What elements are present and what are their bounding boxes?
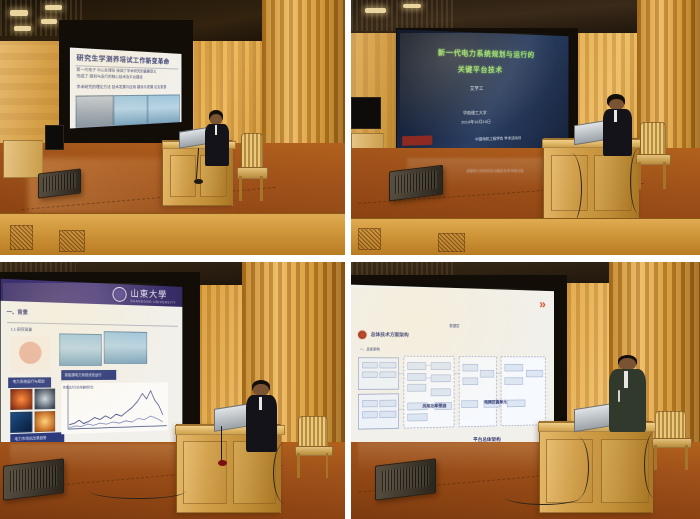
slide-thumbnail [76,96,114,128]
collage-panel-bottom-right[interactable]: » 总体技术方案架构 一、总体架构 [351,262,700,519]
speaker-person [602,94,633,155]
speaker-grill [43,173,76,192]
slide-thumbnail-solar [35,410,56,431]
slide-body-line: 完成了 规划与运行的核心技术及平台建设 [77,74,143,80]
slide-thumbnail-plasma [11,389,33,410]
stage-apron [351,218,700,255]
chart-note: 风电出力与负荷曲线对比 [63,385,94,389]
slide-thumbnail-typhoon [35,388,56,409]
stage-apron [0,213,345,255]
section-label: 一、总体架构 [360,346,380,351]
torso [603,109,632,156]
slide-line-chart [61,382,168,433]
wall-monitor [351,97,381,130]
collage-gutter-horizontal [0,255,700,262]
panel-title: 电力系统运行与规划 [13,378,45,383]
projection-screen: 研究生学测养培试工作新变革命 新一代电子 中心处理系 强调了学术研究的重要意义 … [70,47,182,128]
slide-footer-band [402,135,432,146]
chair-leg [685,445,688,470]
speaker-person [609,355,647,432]
head [253,384,269,396]
microphone [221,426,222,462]
panel-title: 新能源电力系统优化运行 [65,371,102,376]
slide-block-diagram [357,354,546,434]
apron-vent [59,230,85,252]
floor-monitor-speaker [38,168,81,198]
diagram-label: 风电功率预测 [422,403,446,409]
apron-vent [438,233,464,253]
diagram-label: 电网仿真单元 [484,399,507,405]
handheld-microphone [618,390,620,402]
head [619,358,636,370]
slide-thumbnail-turbines [104,330,148,363]
slide-title-line1: 新一代电力系统规划与运行的 [438,47,535,60]
slide-thumbnail-windfarm [60,333,103,365]
ceiling-vent [351,0,456,31]
podium-panel [594,155,632,211]
university-seal-icon [113,286,127,301]
slide-thumbnail-circuit [11,411,33,433]
stage-chair [235,133,270,202]
speaker-grill [396,171,438,194]
affiliation-line2: 2019年10月19日 [461,119,491,126]
microphone-head [194,179,202,184]
collage-panel-bottom-left[interactable]: 山東大學 SHANDONG UNIVERSITY 一、背景 1.1 研究背景 电… [0,262,345,519]
speaker-person [204,110,232,166]
chair-seat [237,167,268,179]
slide-title: 总体技术方案架构 [371,331,409,338]
speaker-person [245,380,280,452]
subsection-label: 1.1 研究背景 [11,327,33,333]
panel-title: 电力市场化改革趋势 [15,434,47,440]
chair-leg [260,176,262,201]
shirt-collar [215,125,217,135]
lecture-hall-photo: 研究生学测养培试工作新变革命 新一代电子 中心处理系 强调了学术研究的重要意义 … [0,0,345,255]
photo-collage: 研究生学测养培试工作新变革命 新一代电子 中心处理系 强调了学术研究的重要意义 … [0,0,700,519]
projection-screen: 山東大學 SHANDONG UNIVERSITY 一、背景 1.1 研究背景 电… [1,278,183,451]
chair-leg [663,162,666,189]
apron-vent [10,225,33,250]
slide-title-line2: 关键平台技术 [458,65,503,76]
podium-panel [601,439,649,504]
slide-thumbnail [148,95,180,124]
stage-cable [644,432,666,499]
side-lectern [3,140,43,178]
shirt-collar [259,397,262,410]
chair-back [241,133,264,171]
slide-body-line: 学术研究的理论方法 技术发展与应用 建设与发展 论文发表 [77,85,167,90]
chair-leg [326,453,329,478]
lecture-hall-photo: 新一代电力系统规划与运行的 关键平台技术 艾芋工 华南理工大学 2019年10月… [351,0,700,255]
stage-chair [293,416,334,478]
microphone-head [218,460,227,466]
diagram-label: 数据层 [450,323,460,328]
shirt-collar [614,110,617,122]
chair-leg [239,176,241,201]
speaker-grill [10,465,57,492]
slide-thumbnail [114,95,148,126]
podium-panel [170,155,196,197]
apron-vent [358,228,381,250]
slide-title: 研究生学测养培试工作新变革命 [77,51,170,65]
side-monitor [45,125,64,150]
stage-cable [273,442,298,504]
lecture-hall-photo: 山東大學 SHANDONG UNIVERSITY 一、背景 1.1 研究背景 电… [0,262,345,519]
shirt-collar [624,371,628,388]
speaker-grill [382,465,429,492]
lecture-hall-photo: » 总体技术方案架构 一、总体架构 [351,262,700,519]
collage-panel-top-left[interactable]: 研究生学测养培试工作新变革命 新一代电子 中心处理系 强调了学术研究的重要意义 … [0,0,345,255]
collage-panel-top-right[interactable]: 新一代电力系统规划与运行的 关键平台技术 艾芋工 华南理工大学 2019年10月… [351,0,700,255]
affiliation-line1: 华南理工大学 [463,110,487,116]
power-cable [630,148,648,214]
slide-footer-center: 中国电机工程学会 学术活动月 [475,136,521,142]
footer-sub-reflection: 全国电力系统优化与稳定化学术研讨会 [466,168,524,173]
projection-screen: » 总体技术方案架构 一、总体架构 [351,284,554,450]
presenter-name: 艾芋工 [470,86,483,92]
chair-leg [297,453,300,478]
double-chevron-right-icon: » [539,297,545,312]
brand-name: 山東大學 [131,286,177,300]
section-label: 一、背景 [7,308,28,316]
slide-divider [7,322,178,327]
chair-back [298,416,327,449]
university-seal-icon [357,329,368,340]
slide-thumbnail-map [11,335,50,373]
